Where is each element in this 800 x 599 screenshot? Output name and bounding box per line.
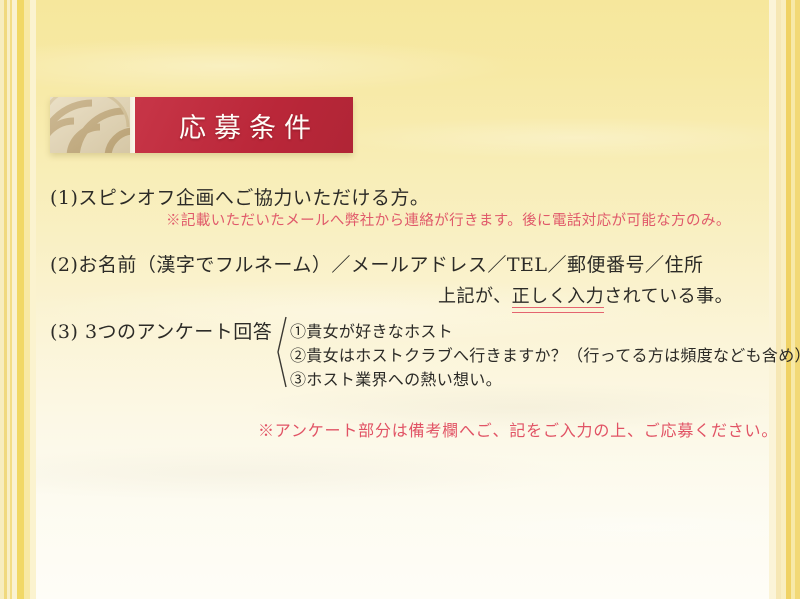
section-banner: 応募条件: [50, 97, 353, 153]
requirement-1-text: (1)スピンオフ企画へご協力いただける方。: [50, 183, 429, 210]
requirement-2-sub-prefix: 上記が、: [438, 286, 512, 307]
japanese-fan-pattern-icon: [50, 97, 130, 153]
survey-item-3: ③ホスト業界への熱い想い。: [290, 366, 502, 390]
requirement-2-sub-suffix: されている事。: [604, 286, 733, 307]
requirement-3-text: (3) 3つのアンケート回答: [50, 317, 272, 344]
banner-red-field: 応募条件: [135, 97, 353, 153]
survey-item-2: ②貴女はホストクラブへ行きますか？（行ってる方は頻度なども含め）: [290, 342, 800, 366]
requirement-2-text: (2)お名前（漢字でフルネーム）／メールアドレス／TEL／郵便番号／住所: [50, 250, 704, 277]
survey-item-1: ①貴女が好きなホスト: [290, 318, 453, 342]
left-edge-stripes: [0, 0, 40, 599]
requirement-1-note: ※記載いただいたメールへ弊社から連絡が行きます。後に電話対応が可能な方のみ。: [166, 209, 731, 230]
page-root: 応募条件 (1)スピンオフ企画へご協力いただける方。 ※記載いただいたメールへ弊…: [0, 0, 800, 599]
survey-brace-icon: [276, 316, 288, 388]
section-title: 応募条件: [169, 106, 319, 145]
footer-note: ※アンケート部分は備考欄へご、記をご入力の上、ご応募ください。: [258, 417, 778, 441]
requirement-2-subline: 上記が、正しく入力されている事。: [438, 282, 733, 308]
requirement-2-sub-underlined: 正しく入力: [512, 282, 605, 308]
right-edge-stripes: [760, 0, 800, 599]
